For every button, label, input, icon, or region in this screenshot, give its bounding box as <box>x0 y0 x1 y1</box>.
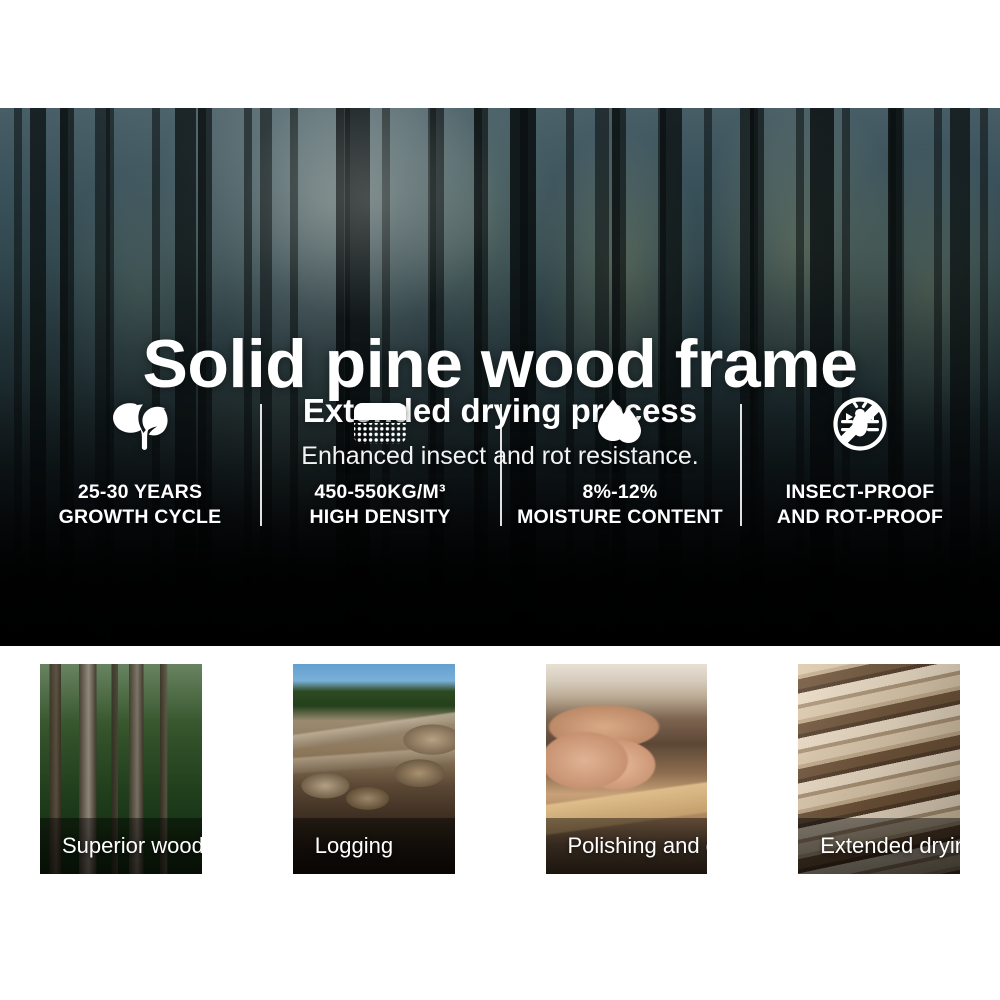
gallery-card-superior-wood: Superior wood <box>40 664 202 874</box>
feature-label: 25-30 YEARS GROWTH CYCLE <box>59 480 222 530</box>
feature-label-line1: INSECT-PROOF <box>786 481 935 503</box>
gallery-caption: Extended drying process <box>798 818 960 874</box>
hero-banner: Solid pine wood frame Extended drying pr… <box>0 108 1000 646</box>
product-infographic-page: Solid pine wood frame Extended drying pr… <box>0 0 1000 1000</box>
gallery-caption: Polishing and grinding <box>546 818 708 874</box>
feature-label-line2: HIGH DENSITY <box>309 505 450 530</box>
feature-list: 25-30 YEARS GROWTH CYCLE <box>20 396 980 536</box>
feature-label-line2: GROWTH CYCLE <box>59 505 222 530</box>
feature-label-line2: AND ROT-PROOF <box>777 505 943 530</box>
feature-label-line1: 450-550KG/M³ <box>314 481 445 503</box>
hero-content: Solid pine wood frame Extended drying pr… <box>0 108 1000 646</box>
feature-label-line1: 8%-12% <box>583 481 658 503</box>
feature-high-density: 450-550KG/M³ HIGH DENSITY <box>260 396 500 530</box>
gallery-caption: Logging <box>293 818 455 874</box>
feature-label-line2: MOISTURE CONTENT <box>517 505 723 530</box>
feature-insect-rot-proof: INSECT-PROOF AND ROT-PROOF <box>740 396 980 530</box>
feature-growth-cycle: 25-30 YEARS GROWTH CYCLE <box>20 396 260 530</box>
hero-title: Solid pine wood frame <box>0 330 1000 398</box>
density-mattress-icon <box>351 396 409 452</box>
feature-label-line1: 25-30 YEARS <box>78 481 202 503</box>
feature-label: 450-550KG/M³ HIGH DENSITY <box>309 480 450 530</box>
gallery-card-polishing: Polishing and grinding <box>546 664 708 874</box>
gallery-card-drying: Extended drying process <box>798 664 960 874</box>
feature-moisture-content: 8%-12% MOISTURE CONTENT <box>500 396 740 530</box>
leaf-icon <box>111 396 169 452</box>
feature-label: 8%-12% MOISTURE CONTENT <box>517 480 723 530</box>
no-insect-icon <box>832 396 888 452</box>
water-drops-icon <box>591 396 649 452</box>
gallery-card-logging: Logging <box>293 664 455 874</box>
process-gallery: Superior wood Logging Polishing and grin… <box>0 648 1000 890</box>
gallery-caption: Superior wood <box>40 818 202 874</box>
feature-label: INSECT-PROOF AND ROT-PROOF <box>777 480 943 530</box>
